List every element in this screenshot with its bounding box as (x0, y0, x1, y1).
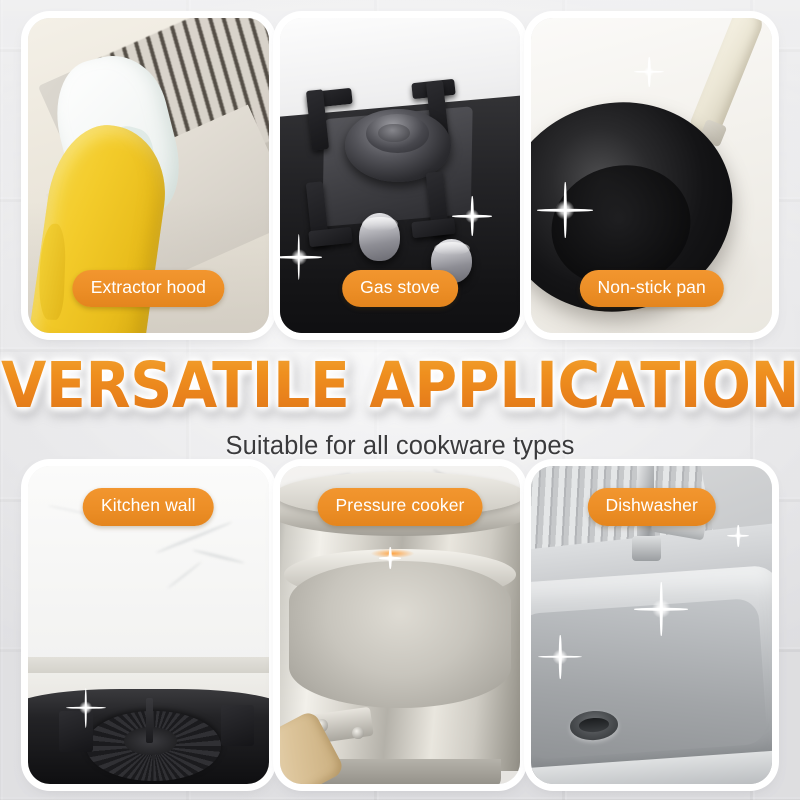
panel-extractor-hood[interactable]: Extractor hood (28, 18, 269, 333)
panel-non-stick-pan[interactable]: Non-stick pan (531, 18, 772, 333)
bottom-panel-row: Kitchen wall Pressure cooker (0, 466, 800, 784)
badge-gas-stove[interactable]: Gas stove (342, 270, 458, 308)
hob-grate-left (59, 711, 93, 752)
headline-block: VERSATILE APPLICATION Suitable for all c… (0, 336, 800, 464)
badge-extractor-hood[interactable]: Extractor hood (73, 270, 224, 308)
badge-pressure-cooker[interactable]: Pressure cooker (318, 488, 483, 526)
sparkle-icon (634, 57, 664, 87)
badge-dishwasher[interactable]: Dishwasher (587, 488, 715, 526)
glove-thumb (39, 224, 68, 321)
badge-kitchen-wall[interactable]: Kitchen wall (83, 488, 214, 526)
badge-non-stick-pan[interactable]: Non-stick pan (580, 270, 724, 308)
pot-interior (289, 561, 510, 707)
stove-control-knob-left (359, 213, 400, 260)
faucet-head (632, 536, 661, 561)
page-title: VERSATILE APPLICATION (1, 354, 799, 417)
panel-kitchen-wall[interactable]: Kitchen wall (28, 466, 269, 784)
pan-handle (688, 18, 767, 139)
page-subtitle: Suitable for all cookware types (226, 432, 575, 461)
panel-dishwasher[interactable]: Dishwasher (531, 466, 772, 784)
burner-center-cap (378, 124, 409, 143)
hob-ignitor (146, 698, 153, 743)
panel-gas-stove[interactable]: Gas stove (280, 18, 521, 333)
sink-basin-floor (531, 598, 767, 761)
hob-grate-right (221, 705, 255, 746)
panel-pressure-cooker[interactable]: Pressure cooker (280, 466, 521, 784)
counter-ledge (28, 657, 269, 673)
top-panel-row: Extractor hood Gas (0, 18, 800, 333)
